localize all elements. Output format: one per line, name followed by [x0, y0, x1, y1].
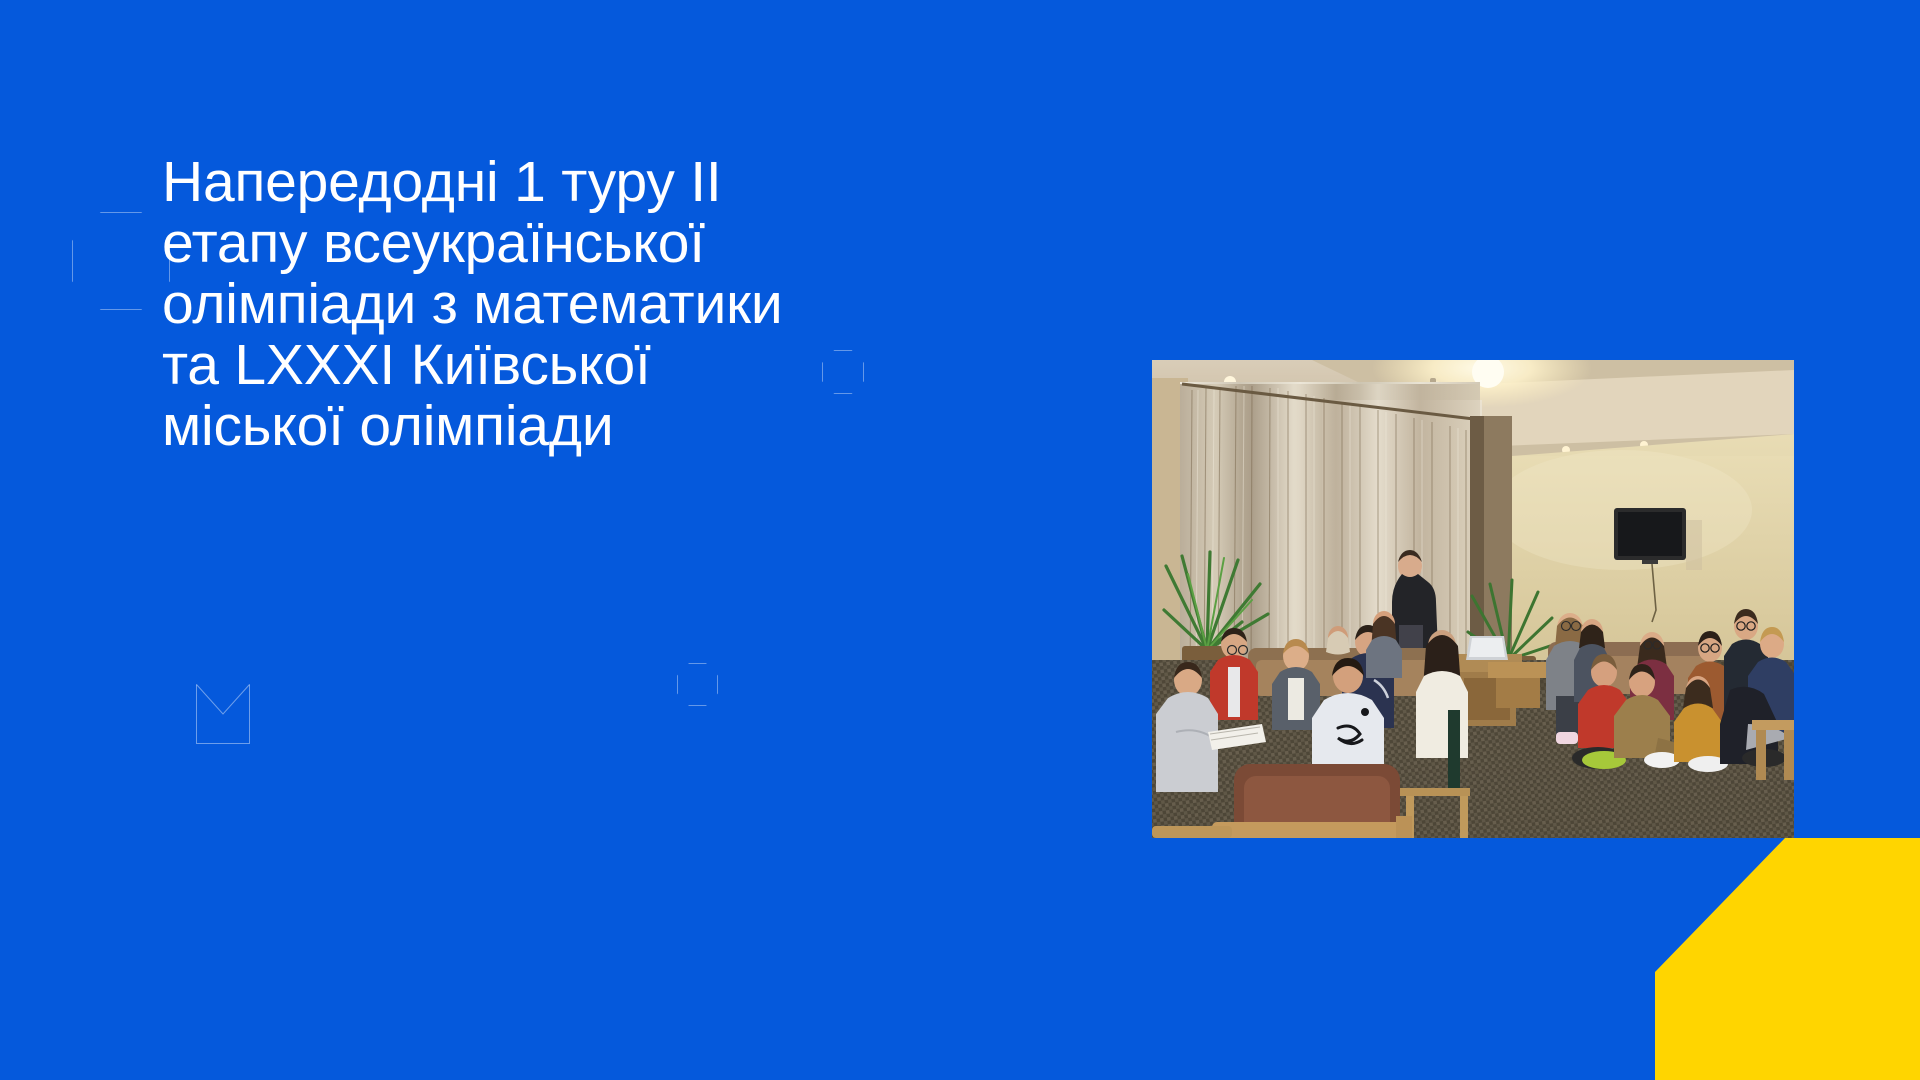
- photo-illustration: [1152, 360, 1794, 838]
- armchair-foreground: [1212, 764, 1412, 838]
- laptop: [1466, 636, 1508, 660]
- presentation-slide: Напередодні 1 туру ІІ етапу всеукраїнськ…: [0, 0, 1920, 1080]
- plant-stand: [1488, 662, 1548, 708]
- slide-photo: [1152, 360, 1794, 838]
- slide-title: Напередодні 1 туру ІІ етапу всеукраїнськ…: [162, 152, 842, 457]
